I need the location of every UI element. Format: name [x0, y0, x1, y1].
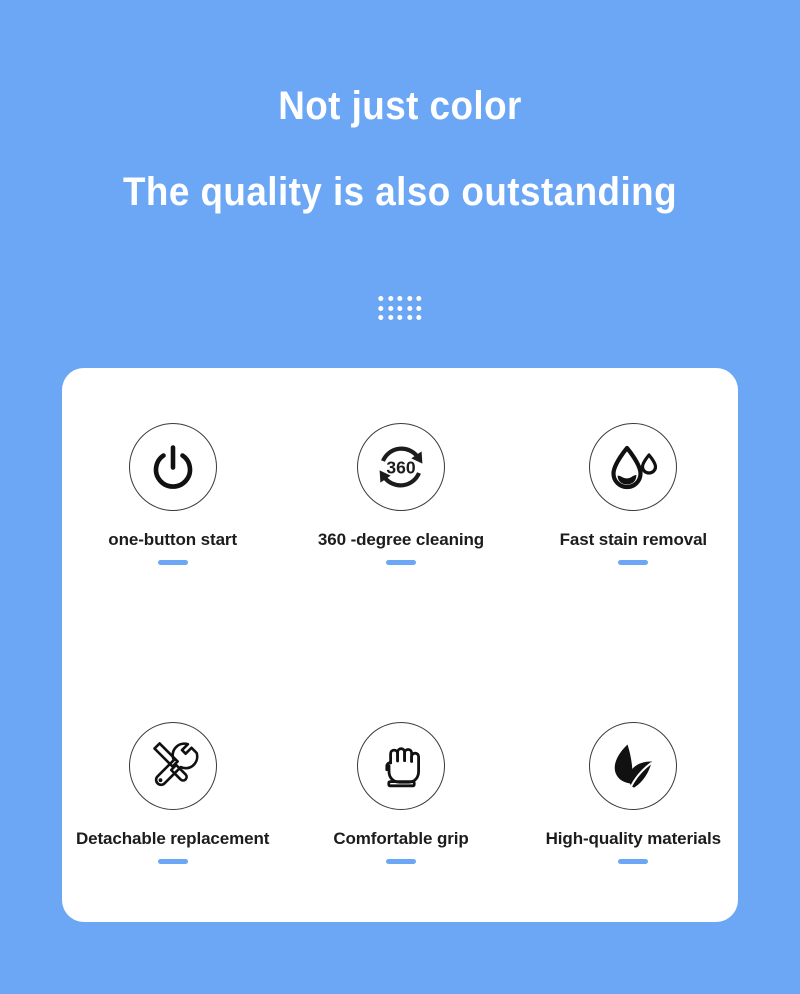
- feature-underline: [618, 859, 648, 864]
- grip-hand-icon: [357, 722, 445, 810]
- feature-item-high-quality-materials[interactable]: High-quality materials: [521, 654, 746, 931]
- dot: [417, 315, 422, 320]
- feature-label: Comfortable grip: [333, 829, 468, 849]
- feature-underline: [158, 560, 188, 565]
- feature-underline: [158, 859, 188, 864]
- feature-label: Fast stain removal: [560, 530, 707, 550]
- feature-underline: [618, 560, 648, 565]
- heading-primary: Not just color: [32, 0, 768, 128]
- dot: [378, 315, 383, 320]
- dot: [398, 296, 403, 301]
- dot: [388, 296, 393, 301]
- dot: [407, 315, 412, 320]
- headings-block: Not just color The quality is also outst…: [0, 0, 800, 214]
- rotation-360-icon-number: 360: [386, 457, 415, 477]
- feature-item-detachable-replacement[interactable]: Detachable replacement: [60, 654, 285, 931]
- feature-label: Detachable replacement: [76, 829, 269, 849]
- dot: [407, 296, 412, 301]
- feature-item-360-degree-cleaning[interactable]: 360 360 -degree cleaning: [288, 355, 513, 632]
- dot: [378, 306, 383, 311]
- dot: [407, 306, 412, 311]
- feature-item-comfortable-grip[interactable]: Comfortable grip: [288, 654, 513, 931]
- dot: [398, 315, 403, 320]
- dot: [388, 306, 393, 311]
- promo-page: Not just color The quality is also outst…: [0, 0, 800, 994]
- feature-label: 360 -degree cleaning: [318, 530, 484, 550]
- feature-item-one-button-start[interactable]: one-button start: [60, 355, 285, 632]
- feature-grid: one-button start 360 360 -degree cleanin…: [62, 368, 738, 922]
- feature-underline: [386, 560, 416, 565]
- feature-card: one-button start 360 360 -degree cleanin…: [62, 368, 738, 922]
- rotation-360-icon: 360: [357, 423, 445, 511]
- dot: [417, 306, 422, 311]
- feature-item-fast-stain-removal[interactable]: Fast stain removal: [521, 355, 746, 632]
- dot-grid-ornament: [378, 296, 421, 320]
- power-button-icon: [129, 423, 217, 511]
- dot: [388, 315, 393, 320]
- feature-underline: [386, 859, 416, 864]
- dot: [417, 296, 422, 301]
- feature-label: one-button start: [108, 530, 237, 550]
- heading-secondary: The quality is also outstanding: [32, 128, 768, 214]
- feature-label: High-quality materials: [546, 829, 721, 849]
- wrench-screwdriver-icon: [129, 722, 217, 810]
- dot: [378, 296, 383, 301]
- water-drop-icon: [589, 423, 677, 511]
- dot: [398, 306, 403, 311]
- leaves-icon: [589, 722, 677, 810]
